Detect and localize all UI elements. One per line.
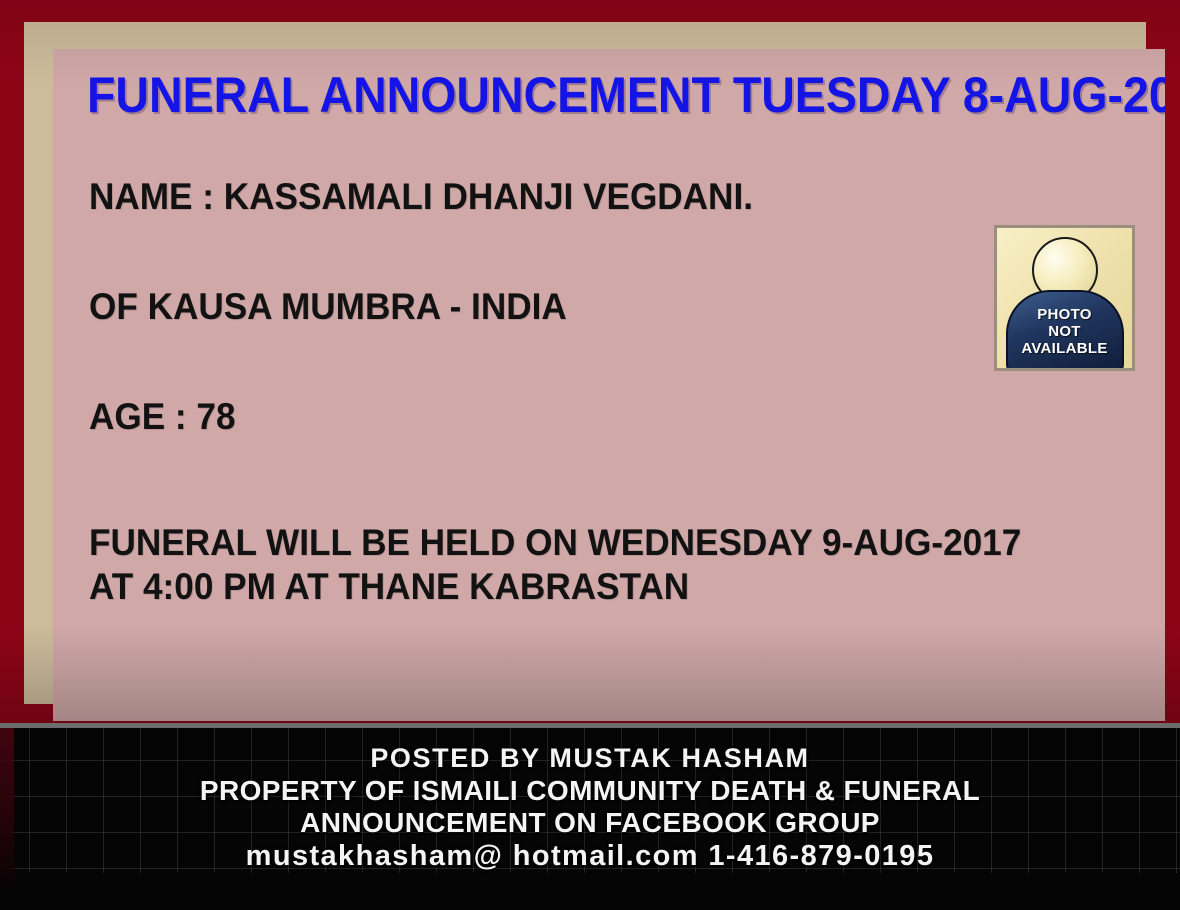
- footer-property-line: PROPERTY OF ISMAILI COMMUNITY DEATH & FU…: [0, 775, 1180, 806]
- photo-label-line-2: NOT: [1008, 323, 1122, 340]
- photo-label-line-1: PHOTO: [1008, 306, 1122, 323]
- photo-placeholder-label: PHOTO NOT AVAILABLE: [1008, 306, 1122, 357]
- footer-group-line: ANNOUNCEMENT ON FACEBOOK GROUP: [0, 807, 1180, 838]
- footer-contact-line: mustakhasham@ hotmail.com 1-416-879-0195: [0, 840, 1180, 872]
- photo-label-line-3: AVAILABLE: [1008, 340, 1122, 357]
- photo-background: PHOTO NOT AVAILABLE: [997, 228, 1132, 368]
- announcement-title: FUNERAL ANNOUNCEMENT TUESDAY 8-AUG-2017: [87, 66, 1073, 124]
- panel-inner-rule: FUNERAL ANNOUNCEMENT TUESDAY 8-AUG-2017 …: [24, 22, 1146, 704]
- photo-not-available-placeholder: PHOTO NOT AVAILABLE: [994, 225, 1135, 371]
- person-body-icon: PHOTO NOT AVAILABLE: [1006, 290, 1124, 371]
- poster-footer: POSTED BY MUSTAK HASHAM PROPERTY OF ISMA…: [0, 728, 1180, 910]
- red-frame: FUNERAL ANNOUNCEMENT TUESDAY 8-AUG-2017 …: [0, 0, 1180, 727]
- deceased-place-line: OF KAUSA MUMBRA - INDIA: [89, 285, 567, 329]
- funeral-details-line-2: AT 4:00 PM AT THANE KABRASTAN: [89, 565, 689, 609]
- deceased-age-line: AGE : 78: [89, 395, 236, 439]
- footer-posted-by: POSTED BY MUSTAK HASHAM: [0, 743, 1180, 773]
- funeral-details-line-1: FUNERAL WILL BE HELD ON WEDNESDAY 9-AUG-…: [89, 521, 1021, 565]
- deceased-name-line: NAME : KASSAMALI DHANJI VEGDANI.: [89, 175, 753, 219]
- funeral-announcement-poster: FUNERAL ANNOUNCEMENT TUESDAY 8-AUG-2017 …: [0, 0, 1180, 910]
- announcement-panel: FUNERAL ANNOUNCEMENT TUESDAY 8-AUG-2017 …: [53, 49, 1165, 721]
